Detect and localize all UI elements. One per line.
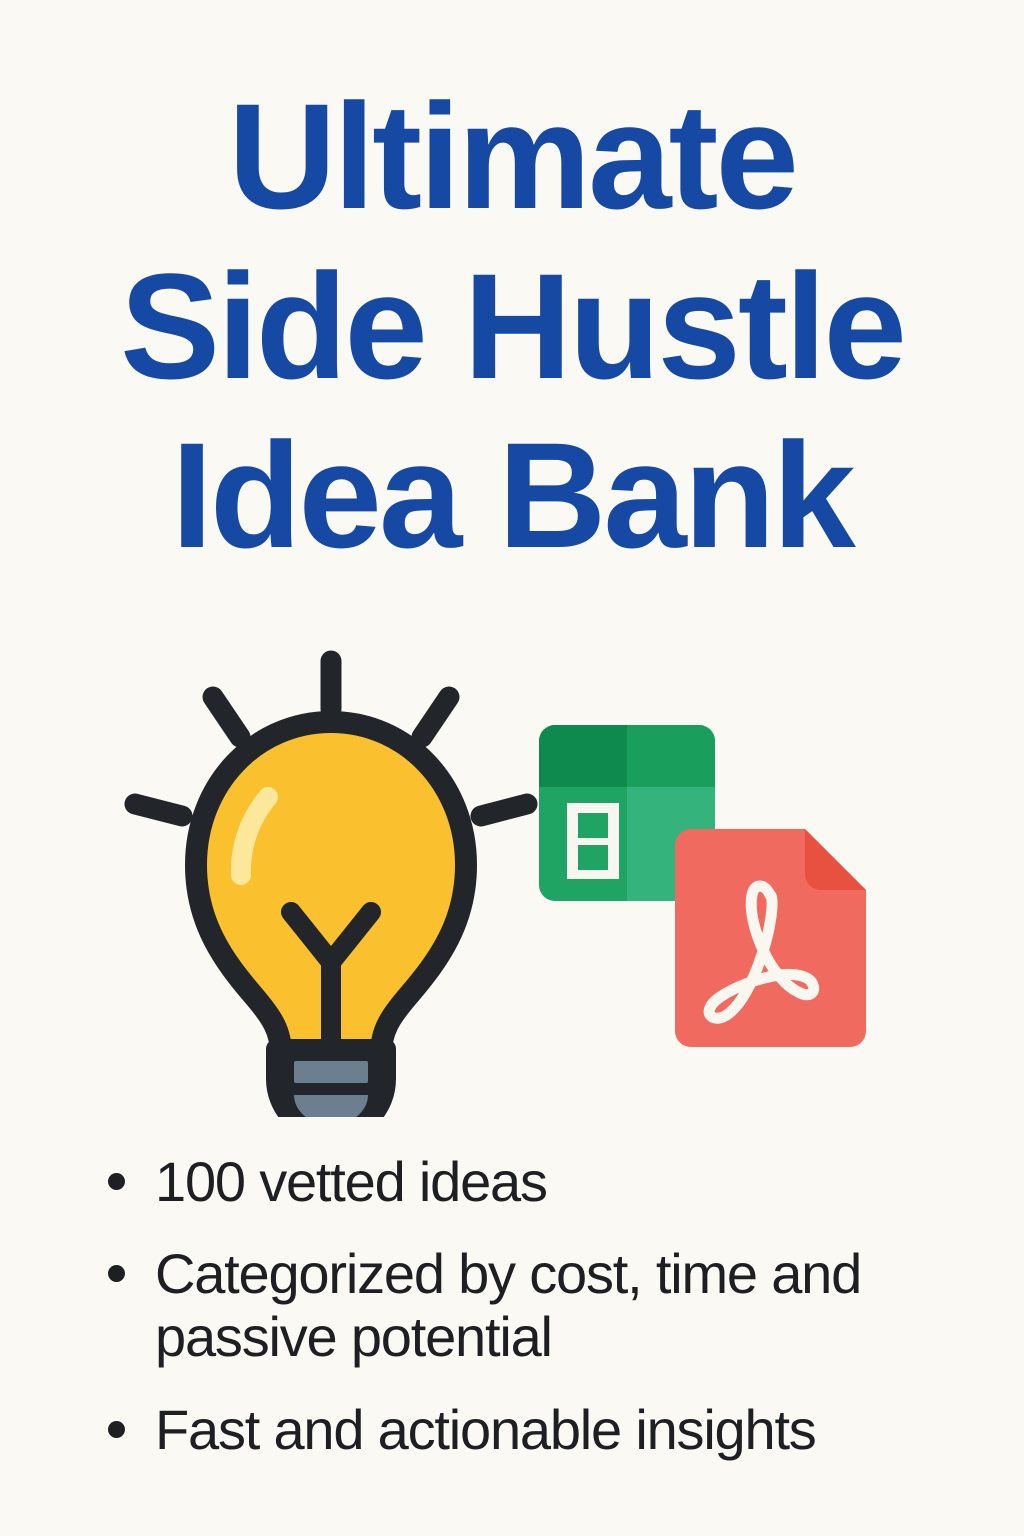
- feature-bullet-list: 100 vetted ideas Categorized by cost, ti…: [0, 1151, 1024, 1462]
- list-item: Categorized by cost, time and passive po…: [108, 1243, 984, 1368]
- spreadsheet-header-left: [539, 725, 627, 787]
- bullet-dot-icon: [108, 1265, 125, 1282]
- list-item: 100 vetted ideas: [108, 1151, 984, 1214]
- bullet-text: Categorized by cost, time and passive po…: [155, 1243, 984, 1368]
- spreadsheet-header-right: [627, 725, 715, 787]
- pdf-folded-corner: [805, 829, 866, 890]
- hero-graphic: [0, 617, 1024, 1117]
- title-line-2: Side Hustle: [0, 242, 1024, 412]
- title-line-3: Idea Bank: [0, 411, 1024, 581]
- poster-canvas: Ultimate Side Hustle Idea Bank: [0, 0, 1024, 1536]
- page-title: Ultimate Side Hustle Idea Bank: [0, 72, 1024, 581]
- lightbulb-base-band: [294, 1061, 368, 1083]
- pdf-file-icon: [675, 829, 866, 1047]
- spreadsheet-cell-1: [578, 813, 608, 838]
- list-item: Fast and actionable insights: [108, 1399, 984, 1462]
- title-line-1: Ultimate: [0, 72, 1024, 242]
- bullet-dot-icon: [108, 1421, 125, 1438]
- lightbulb-icon: [135, 661, 527, 1117]
- bullet-text: 100 vetted ideas: [155, 1151, 547, 1214]
- lightbulb-base-tip: [294, 1095, 368, 1117]
- spreadsheet-cell-2: [578, 845, 608, 870]
- bullet-text: Fast and actionable insights: [155, 1399, 816, 1462]
- bullet-dot-icon: [108, 1173, 125, 1190]
- hero-graphic-svg: [0, 617, 1024, 1117]
